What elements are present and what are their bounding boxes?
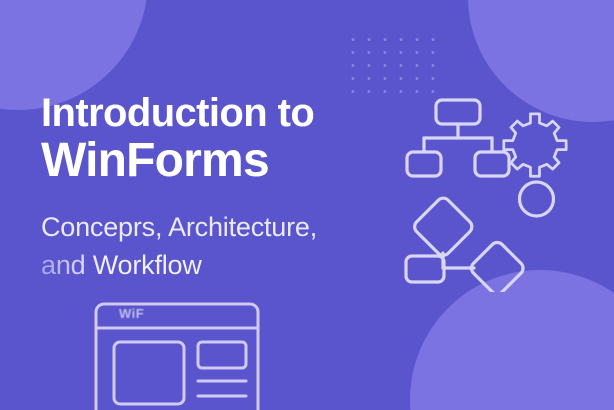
line-art-cluster <box>404 86 594 292</box>
title-line-1: Introduction to <box>41 92 441 135</box>
subtitle-line-1: Conceprs, Architecture, <box>41 208 441 246</box>
gear-icon <box>504 114 566 216</box>
title-line-2: WinForms <box>41 135 441 187</box>
app-window-mockup: WiF <box>92 300 270 410</box>
page-subtitle: Conceprs, Architecture, and Workflow <box>41 208 441 285</box>
hierarchy-tree-icon <box>407 100 509 176</box>
flowchart-icon <box>406 195 526 292</box>
slide-canvas: Introduction to WinForms Conceprs, Archi… <box>0 0 614 410</box>
page-title: Introduction to WinForms <box>41 92 441 187</box>
subtitle-line-2: and Workflow <box>41 246 441 284</box>
